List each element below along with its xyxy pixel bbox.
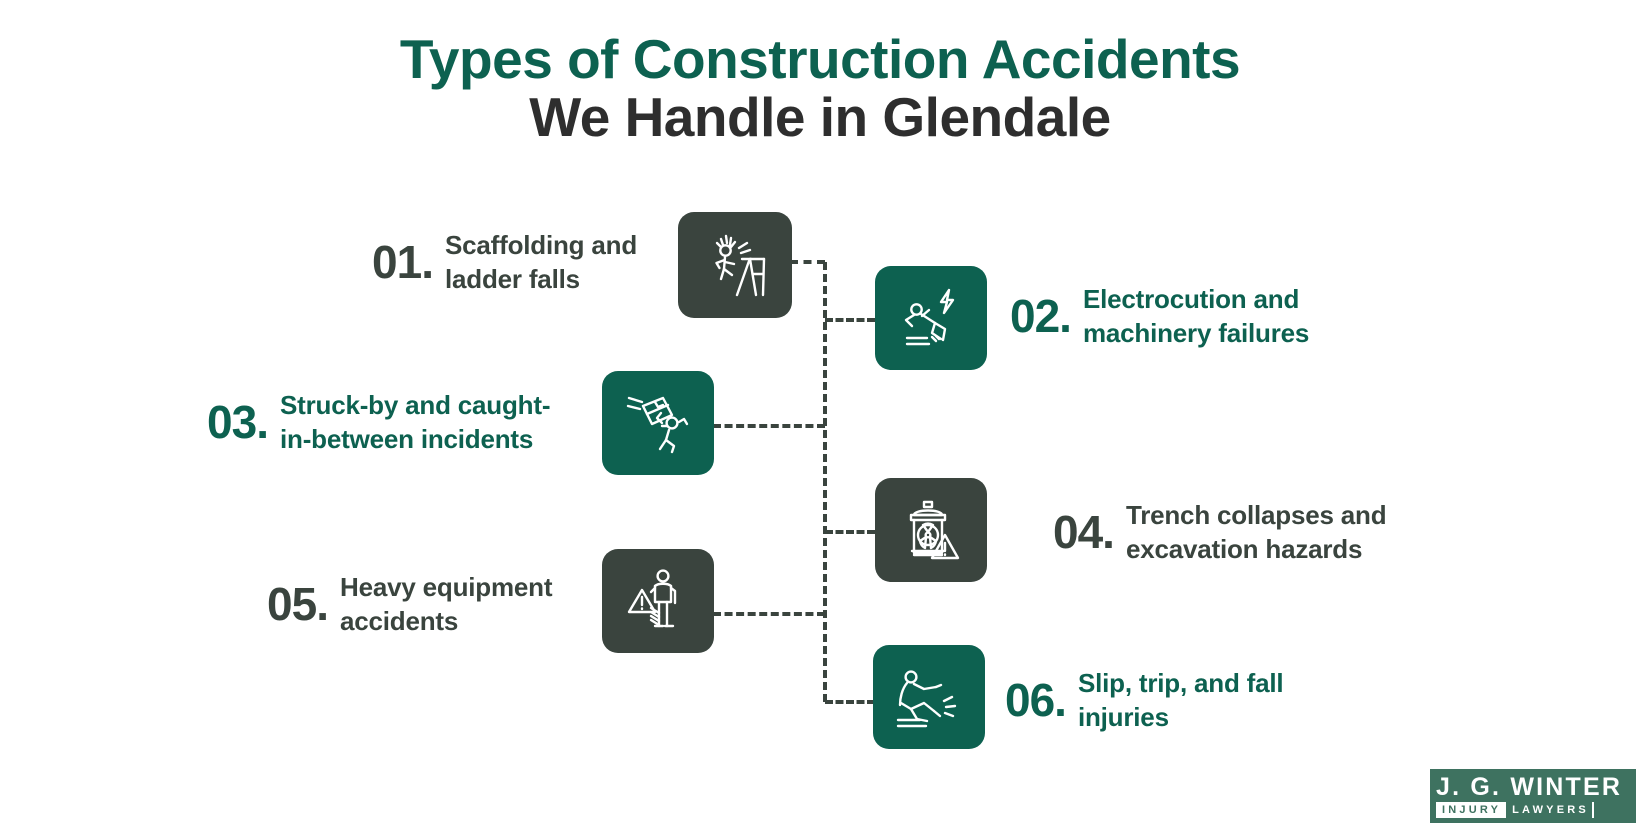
connector-branch-item-04 <box>825 530 875 534</box>
item-number-05: 05. <box>267 581 328 627</box>
page-title: Types of Construction Accidents We Handl… <box>0 30 1640 147</box>
infographic-canvas: Types of Construction Accidents We Handl… <box>0 0 1640 840</box>
connector-trunk-vertical <box>823 262 827 702</box>
item-label-01: Scaffolding and ladder falls <box>445 228 660 297</box>
item-label-03: Struck-by and caught-in-between incident… <box>280 388 580 457</box>
item-number-04: 04. <box>1053 509 1114 555</box>
person-slipping-icon <box>892 660 966 734</box>
item-text-02: 02. Electrocution and machinery failures <box>1010 282 1440 351</box>
connector-branch-item-01 <box>790 260 825 264</box>
title-line-secondary: We Handle in Glendale <box>0 88 1640 146</box>
icon-tile-item-01[interactable] <box>678 212 792 318</box>
person-electrocuted-icon <box>894 281 968 355</box>
logo-tagline-injury: INJURY <box>1436 802 1506 818</box>
logo-firm-name: J. G. WINTER <box>1430 769 1636 802</box>
icon-tile-item-02[interactable] <box>875 266 987 370</box>
item-label-04: Trench collapses and excavation hazards <box>1126 498 1416 567</box>
item-text-04: 04. Trench collapses and excavation haza… <box>1053 498 1473 567</box>
brand-logo[interactable]: J. G. WINTER INJURY LAWYERS <box>1430 769 1636 823</box>
item-text-05: 05. Heavy equipment accidents <box>230 570 580 639</box>
item-number-01: 01. <box>372 239 433 285</box>
logo-tagline-lawyers: LAWYERS <box>1510 802 1594 818</box>
item-number-06: 06. <box>1005 677 1066 723</box>
title-line-primary: Types of Construction Accidents <box>0 30 1640 88</box>
injured-worker-warning-icon <box>621 564 695 638</box>
item-text-06: 06. Slip, trip, and fall injuries <box>1005 666 1405 735</box>
connector-branch-item-02 <box>825 318 875 322</box>
hazard-barrel-warning-icon <box>894 493 968 567</box>
icon-tile-item-05[interactable] <box>602 549 714 653</box>
icon-tile-item-06[interactable] <box>873 645 985 749</box>
item-text-03: 03. Struck-by and caught-in-between inci… <box>120 388 580 457</box>
item-number-03: 03. <box>207 399 268 445</box>
logo-tagline: INJURY LAWYERS <box>1430 802 1636 823</box>
icon-tile-item-03[interactable] <box>602 371 714 475</box>
person-falling-from-ladder-icon <box>698 228 772 302</box>
item-text-01: 01. Scaffolding and ladder falls <box>300 228 660 297</box>
icon-tile-item-04[interactable] <box>875 478 987 582</box>
connector-branch-item-06 <box>825 700 875 704</box>
item-label-06: Slip, trip, and fall injuries <box>1078 666 1323 735</box>
connector-branch-item-05 <box>713 612 825 616</box>
item-number-02: 02. <box>1010 293 1071 339</box>
connector-branch-item-03 <box>713 424 825 428</box>
item-label-05: Heavy equipment accidents <box>340 570 580 639</box>
falling-box-struck-by-icon <box>621 386 695 460</box>
item-label-02: Electrocution and machinery failures <box>1083 282 1343 351</box>
